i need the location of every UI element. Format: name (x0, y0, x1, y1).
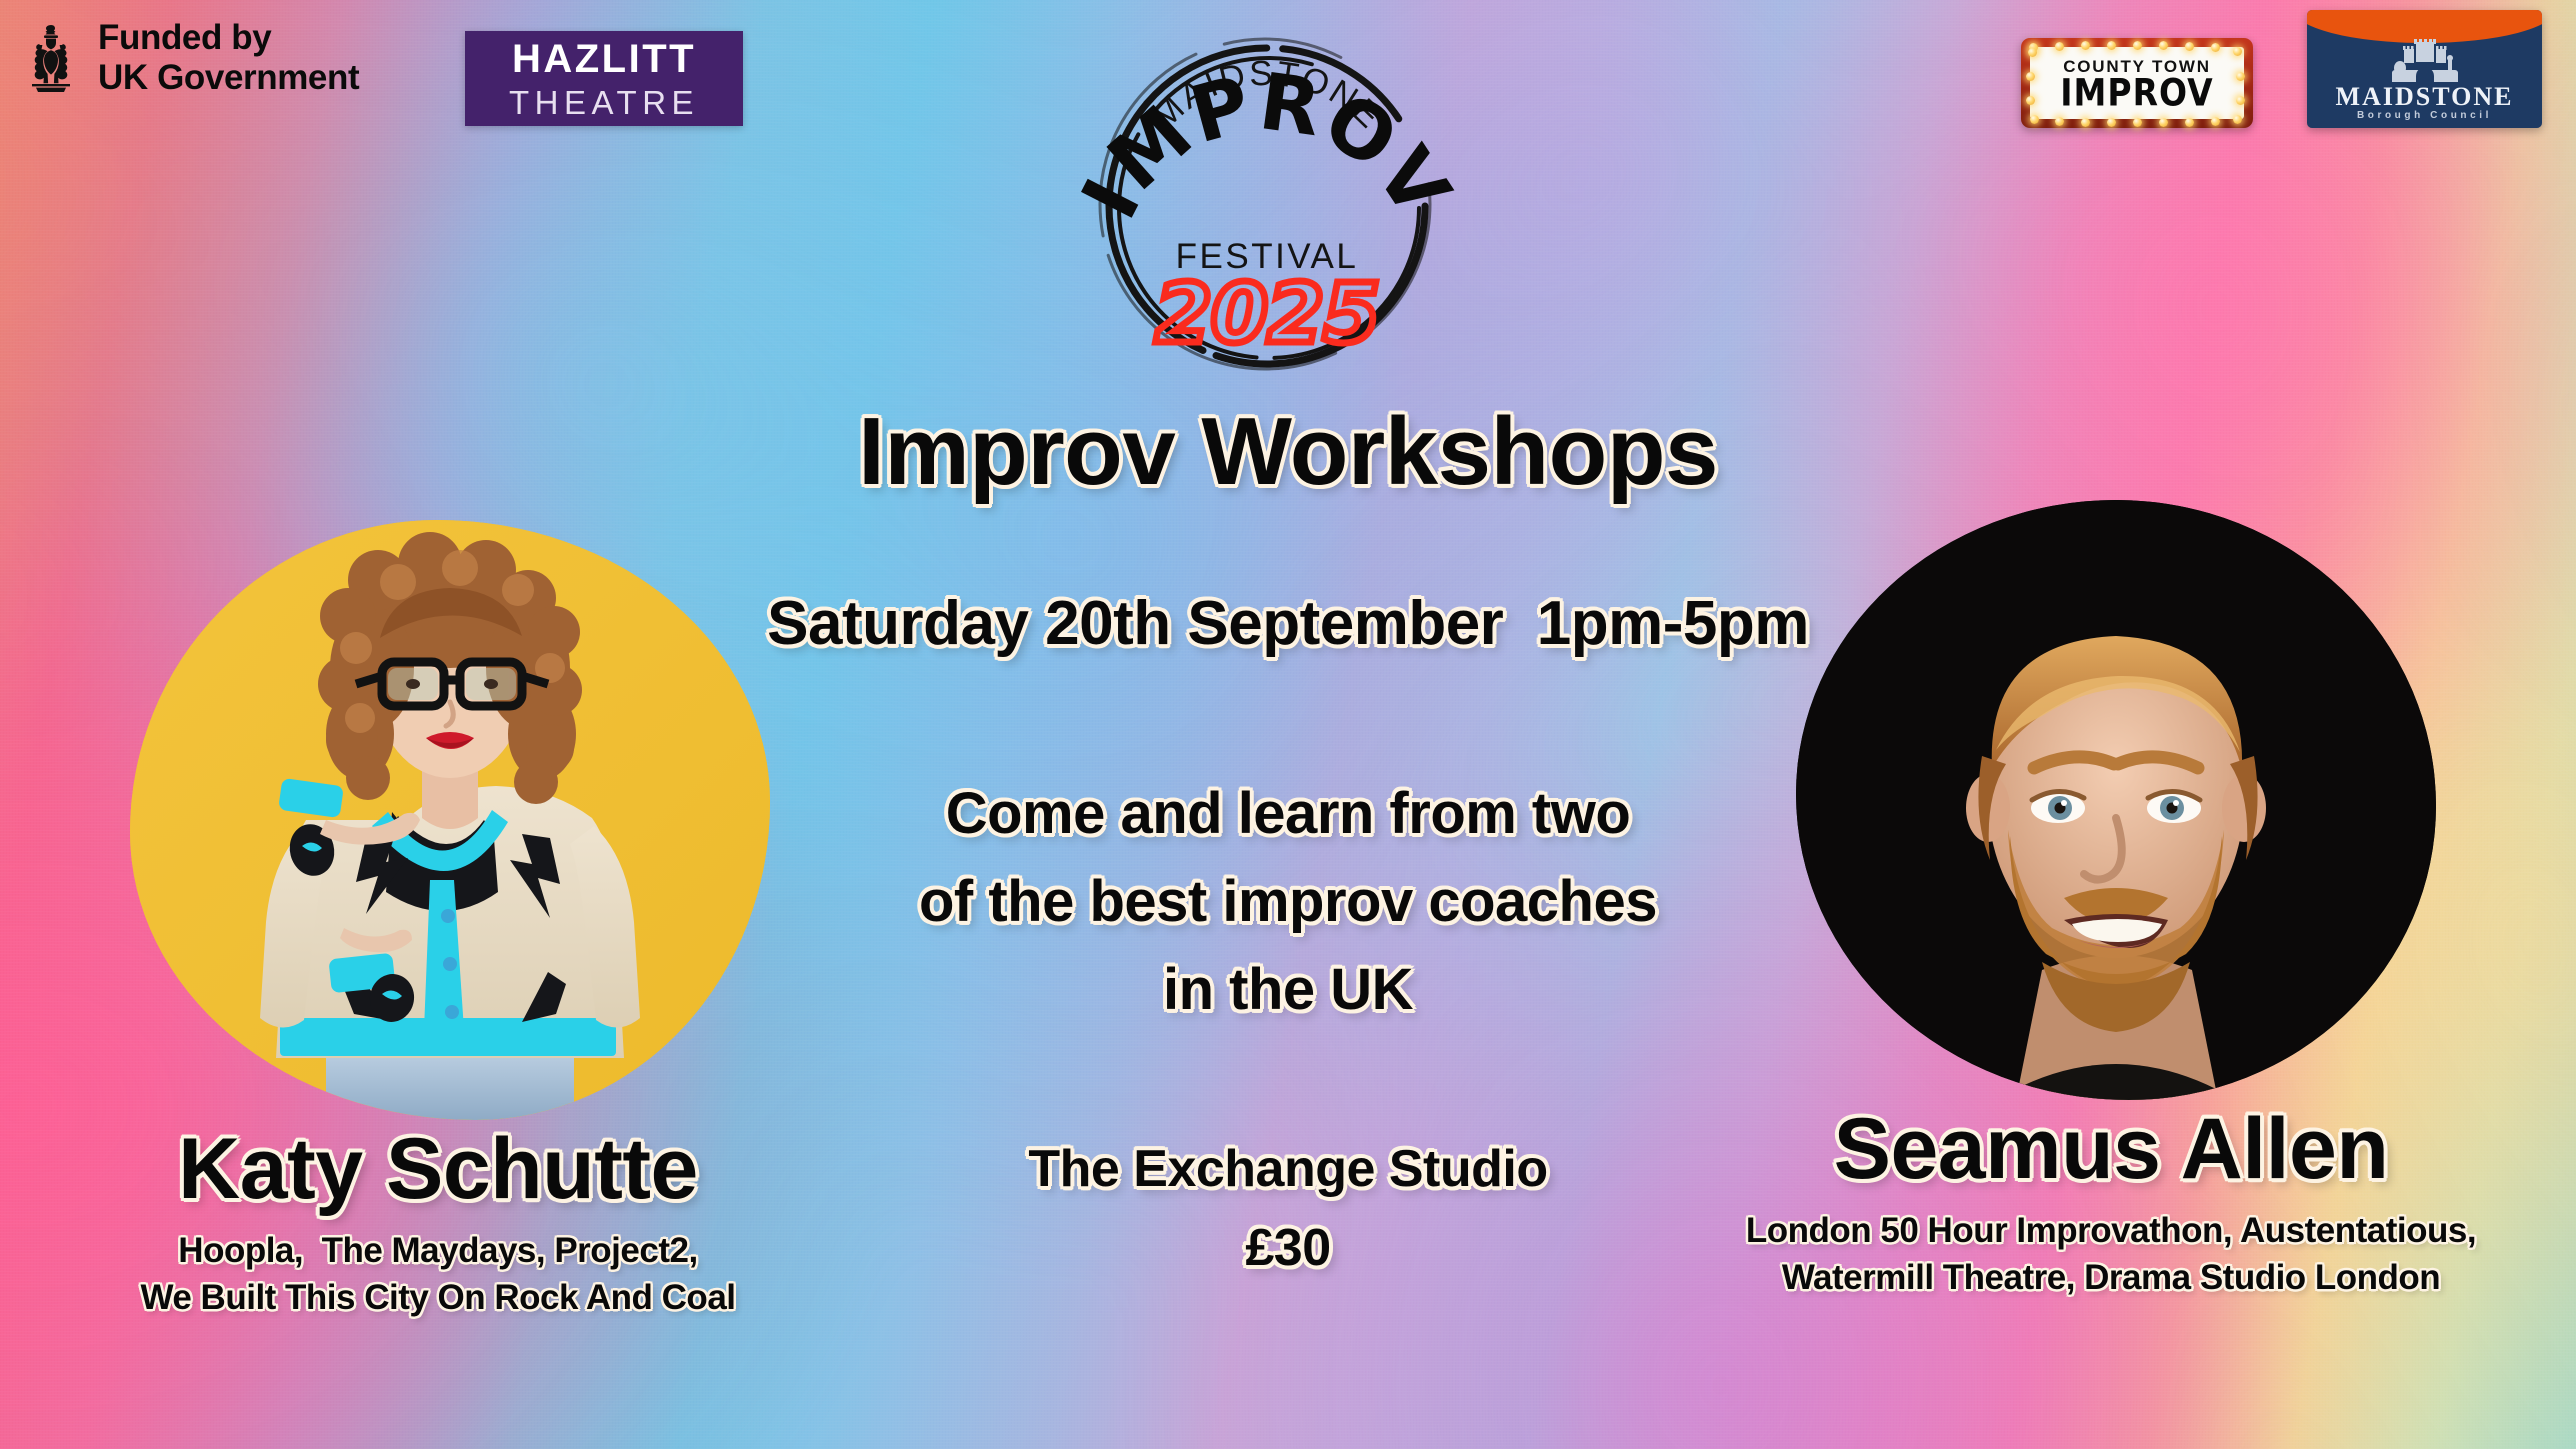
svg-text:IMPROV: IMPROV (1072, 57, 1462, 233)
county-town-improv-line2: IMPROV (2060, 74, 2213, 111)
credit-line-1: Hoopla, The Maydays, Project2, (0, 1228, 900, 1275)
page-title: Improv Workshops (0, 404, 2576, 500)
credit-line-1: London 50 Hour Improvathon, Austentatiou… (1656, 1208, 2566, 1255)
photo-backdrop-yellow (130, 520, 770, 1120)
maidstone-improv-festival-stamp-logo: MAIDSTONE IMPROV FESTIVAL 2025 (1072, 6, 1462, 396)
festival-main-text: IMPROV (1072, 57, 1462, 233)
funded-by-uk-government-logo: Funded by UK Government (18, 18, 359, 98)
coach-credits-katy-schutte: Hoopla, The Maydays, Project2, We Built … (0, 1228, 900, 1321)
credit-line-2: Watermill Theatre, Drama Studio London (1656, 1255, 2566, 1302)
portrait-illustration-seamus (1796, 500, 2436, 1100)
hazlitt-wordmark-line1: HAZLITT (512, 39, 696, 79)
coach-card-katy-schutte: Katy Schutte Hoopla, The Maydays, Projec… (0, 520, 900, 1321)
county-town-improv-card: COUNTY TOWN IMPROV (2030, 47, 2244, 119)
castle-icon (2386, 38, 2464, 84)
coach-name-seamus-allen: Seamus Allen (1656, 1106, 2566, 1192)
credit-line-2: We Built This City On Rock And Coal (0, 1275, 900, 1322)
council-subtitle: Borough Council (2307, 111, 2542, 121)
coach-name-katy-schutte: Katy Schutte (0, 1126, 900, 1212)
council-title: MAIDSTONE (2307, 84, 2542, 110)
royal-crest-icon (18, 22, 84, 94)
festival-year: 2025 (1155, 267, 1379, 362)
hazlitt-wordmark-line2: THEATRE (509, 86, 699, 119)
coach-card-seamus-allen: Seamus Allen London 50 Hour Improvathon,… (1656, 500, 2576, 1301)
coach-photo-seamus-allen (1796, 500, 2436, 1100)
uk-government-label: Funded by UK Government (98, 18, 359, 98)
photo-backdrop-black (1796, 500, 2436, 1100)
hazlitt-theatre-logo: HAZLITT THEATRE (465, 31, 743, 126)
poster-root: Funded by UK Government HAZLITT THEATRE … (0, 0, 2576, 1449)
county-town-improv-logo: COUNTY TOWN IMPROV (2021, 38, 2253, 128)
coach-photo-katy-schutte (130, 520, 770, 1120)
portrait-illustration-katy (130, 520, 770, 1120)
coach-credits-seamus-allen: London 50 Hour Improvathon, Austentatiou… (1656, 1208, 2566, 1301)
maidstone-borough-council-logo: MAIDSTONE Borough Council (2307, 10, 2542, 128)
